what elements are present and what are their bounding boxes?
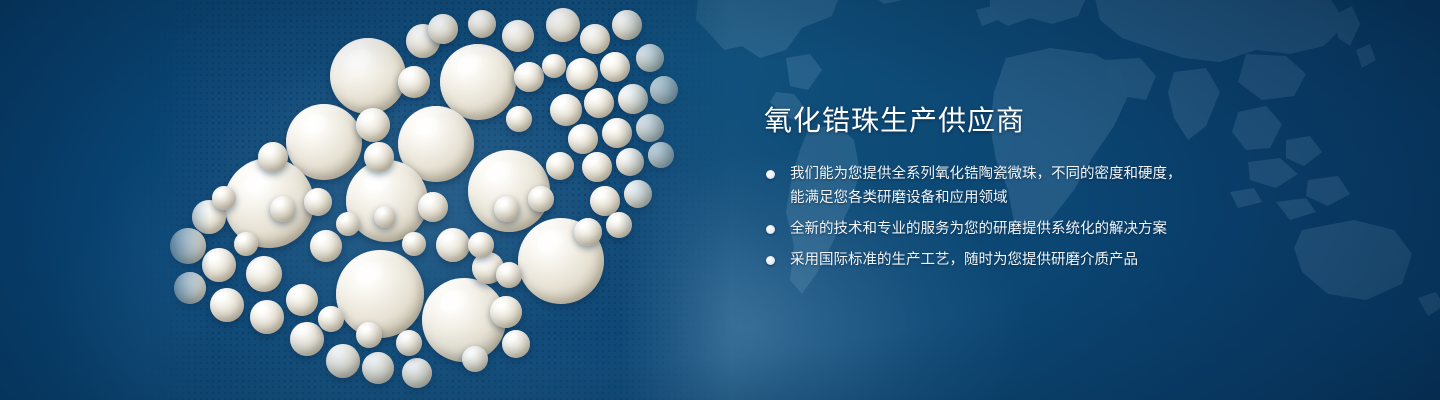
list-item-line: 我们能为您提供全系列氧化锆陶瓷微珠，不同的密度和硬度， xyxy=(790,166,1182,182)
feature-list: 我们能为您提供全系列氧化锆陶瓷微珠，不同的密度和硬度， 能满足您各类研磨设备和应… xyxy=(764,162,1234,272)
list-item-text: 全新的技术和专业的服务为您的研磨提供系统化的解决方案 xyxy=(790,217,1234,241)
bullet-dot-icon xyxy=(766,170,775,179)
list-item-line: 能满足您各类研磨设备和应用领域 xyxy=(790,186,1234,210)
list-item-text: 采用国际标准的生产工艺，随时为您提供研磨介质产品 xyxy=(790,248,1234,272)
list-item: 全新的技术和专业的服务为您的研磨提供系统化的解决方案 xyxy=(764,217,1234,241)
hero-banner: 氧化锆珠生产供应商 我们能为您提供全系列氧化锆陶瓷微珠，不同的密度和硬度， 能满… xyxy=(0,0,1440,400)
list-item-line: 采用国际标准的生产工艺，随时为您提供研磨介质产品 xyxy=(790,252,1138,268)
list-item-text: 我们能为您提供全系列氧化锆陶瓷微珠，不同的密度和硬度， 能满足您各类研磨设备和应… xyxy=(790,162,1234,210)
list-item: 我们能为您提供全系列氧化锆陶瓷微珠，不同的密度和硬度， 能满足您各类研磨设备和应… xyxy=(764,162,1234,210)
banner-content: 氧化锆珠生产供应商 我们能为您提供全系列氧化锆陶瓷微珠，不同的密度和硬度， 能满… xyxy=(764,104,1234,272)
page-title: 氧化锆珠生产供应商 xyxy=(764,104,1234,138)
bullet-dot-icon xyxy=(766,225,775,234)
list-item: 采用国际标准的生产工艺，随时为您提供研磨介质产品 xyxy=(764,248,1234,272)
list-item-line: 全新的技术和专业的服务为您的研磨提供系统化的解决方案 xyxy=(790,221,1167,237)
bullet-dot-icon xyxy=(766,256,775,265)
